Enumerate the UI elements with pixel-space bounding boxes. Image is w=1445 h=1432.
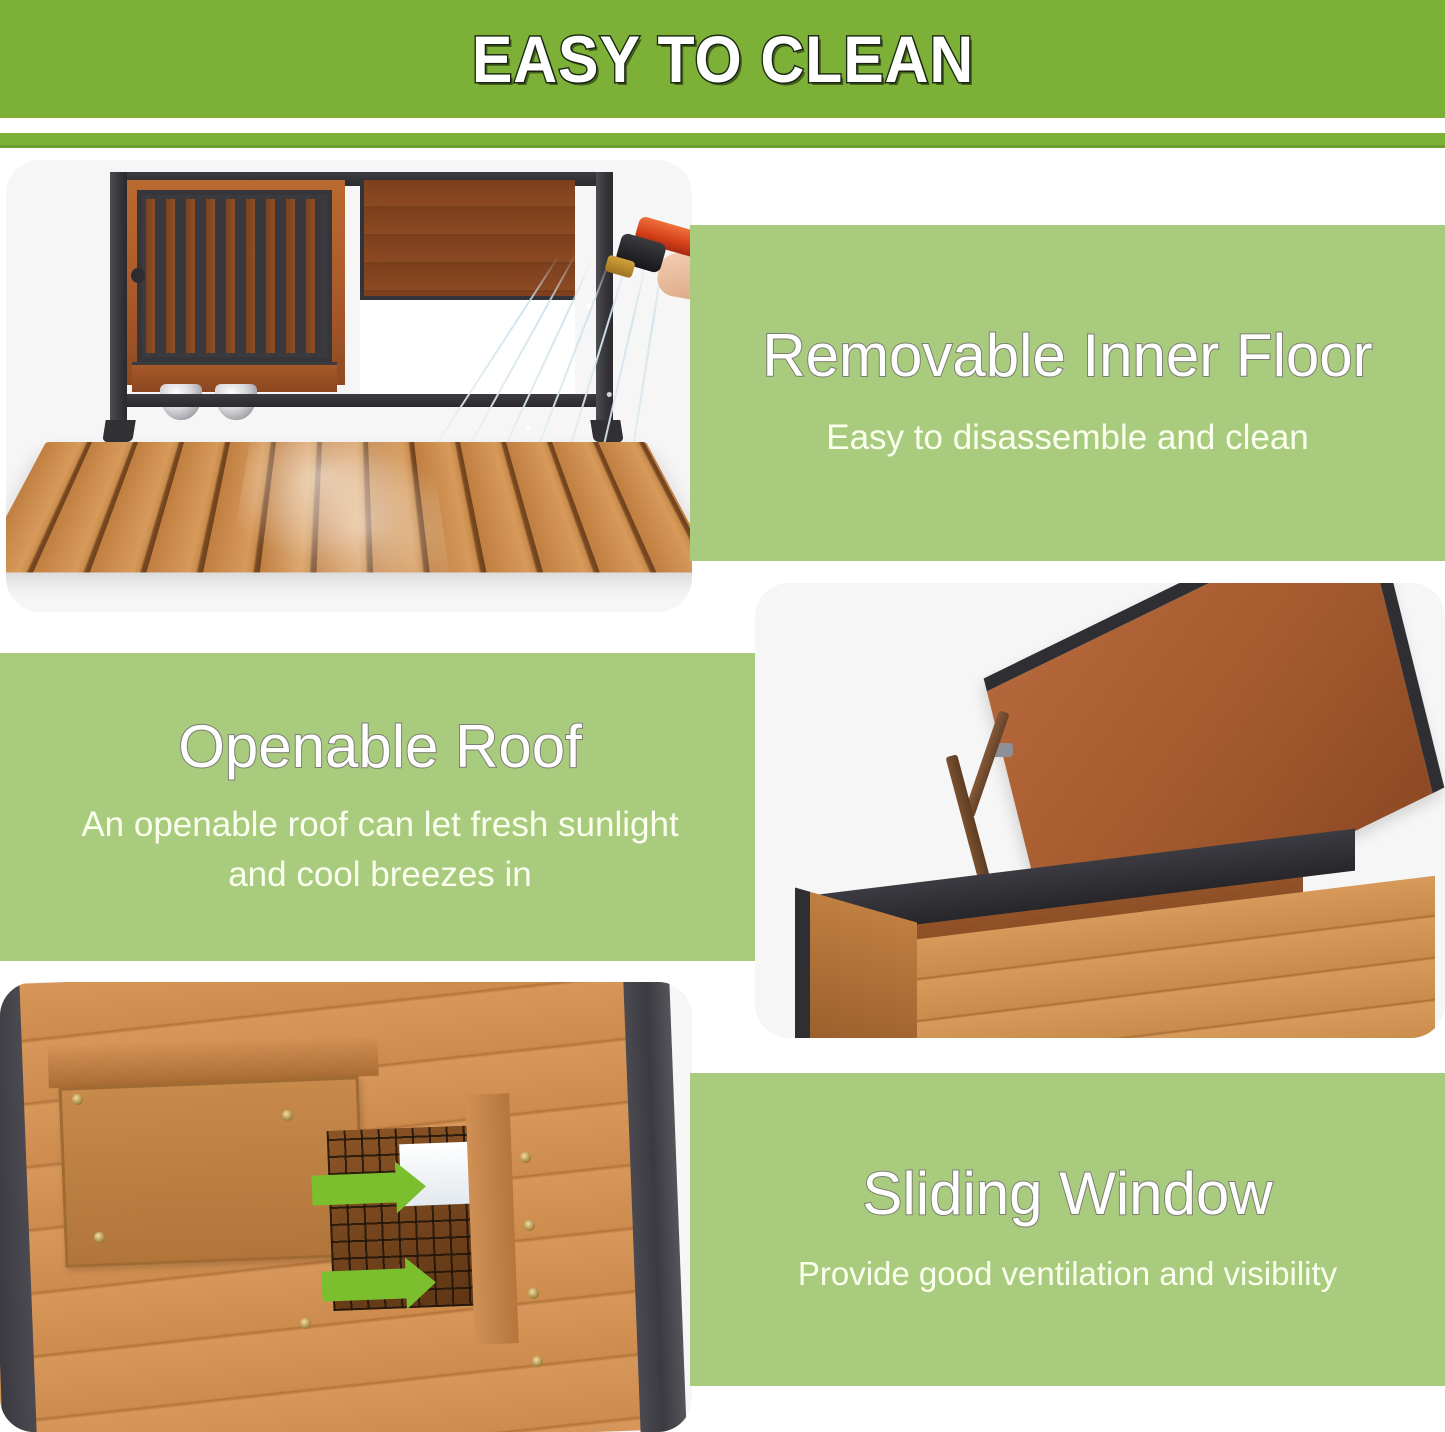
- feature-title: Sliding Window: [862, 1162, 1272, 1225]
- scene-sliding-window: [0, 982, 692, 1432]
- feature-title: Removable Inner Floor: [762, 324, 1372, 387]
- feature-subtitle: An openable roof can let fresh sunlight …: [70, 800, 690, 899]
- feature-title: Openable Roof: [178, 715, 582, 778]
- slide-direction-arrow-icon: [321, 1268, 408, 1301]
- screw: [72, 1094, 83, 1105]
- wet-water-patch: [228, 442, 450, 572]
- feature-text-sliding-window: Sliding Window Provide good ventilation …: [690, 1073, 1445, 1386]
- slatted-door: [137, 190, 332, 362]
- photo-openable-roof: [755, 583, 1445, 1038]
- banner-divider-rule: [0, 133, 1445, 148]
- slide-direction-arrow-icon: [311, 1172, 398, 1205]
- photo-removable-inner-floor: [6, 160, 692, 612]
- hose-nozzle-icon: [606, 222, 692, 296]
- frame-foot-left: [102, 420, 135, 442]
- wooden-house-box: [795, 679, 1415, 1038]
- door-bars: [146, 199, 323, 353]
- feature-text-removable-inner-floor: Removable Inner Floor Easy to disassembl…: [690, 225, 1445, 561]
- scene-openable-roof: [755, 583, 1445, 1038]
- feature-text-openable-roof: Openable Roof An openable roof can let f…: [0, 653, 760, 961]
- header-banner: EASY TO CLEAN: [0, 0, 1445, 118]
- scene-inner-floor: [6, 160, 692, 612]
- removable-slat-floor: [6, 442, 692, 572]
- feature-subtitle: Provide good ventilation and visibility: [798, 1251, 1337, 1298]
- door-latch-icon: [131, 268, 145, 283]
- screw: [520, 1152, 531, 1163]
- screw: [528, 1288, 539, 1299]
- screw: [524, 1220, 535, 1231]
- screw: [532, 1356, 543, 1367]
- screw: [94, 1232, 105, 1243]
- photo-sliding-window: [0, 982, 692, 1432]
- frame-leg-left: [110, 172, 127, 424]
- screw: [282, 1110, 293, 1121]
- support-strut-upper: [963, 710, 1009, 818]
- feature-subtitle: Easy to disassemble and clean: [826, 413, 1309, 463]
- screw: [300, 1318, 311, 1329]
- page-title: EASY TO CLEAN: [471, 21, 973, 97]
